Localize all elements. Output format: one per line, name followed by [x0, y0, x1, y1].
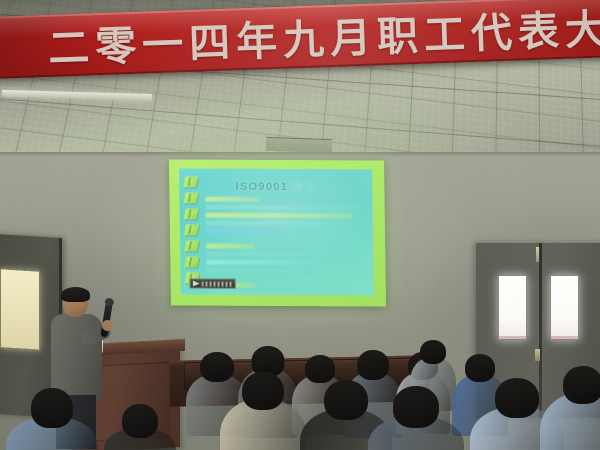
- presenter-hand: [102, 320, 113, 331]
- audience-member-head: [563, 366, 600, 404]
- slide-logo-badge: [190, 279, 236, 289]
- slide-bullet-icon: [184, 225, 199, 236]
- slide-text-line: [207, 291, 351, 296]
- slide-text-line: [206, 221, 347, 227]
- presenter-hair: [61, 287, 90, 302]
- slide-text-line: [205, 197, 259, 202]
- slide-text-line: [206, 260, 331, 266]
- left-door-glass-panel: [0, 268, 40, 350]
- audience-member-head: [357, 350, 389, 380]
- audience-member: [104, 404, 176, 450]
- audience-member-head: [420, 340, 446, 364]
- door-glass-panel-right: [550, 275, 579, 340]
- logo-wordmark: [202, 281, 233, 286]
- play-triangle-icon: [193, 281, 200, 287]
- slide-text-line: [206, 213, 353, 219]
- slide-title-suffix: 简 介: [292, 182, 316, 192]
- audience-member-head: [242, 372, 284, 410]
- conference-room-photo: 二零一四年九月职工代表大 ISO9001 简 介: [0, 0, 600, 450]
- audience-member: [368, 386, 464, 450]
- audience-member-head: [393, 386, 439, 428]
- slide-title: ISO9001 简 介: [179, 179, 372, 193]
- slide-bullet-icon: [184, 241, 199, 252]
- slide-text-line: [206, 229, 283, 234]
- projection-screen: ISO9001 简 介: [169, 159, 386, 306]
- audience-member-head: [324, 380, 368, 420]
- slide-bullet-icon: [183, 177, 198, 188]
- door-glass-panel-left: [498, 275, 527, 340]
- slide-bullet-column: [182, 177, 204, 289]
- slide-text-line: [206, 252, 356, 258]
- audience-member-head: [465, 354, 495, 382]
- slide-text-line: [206, 244, 254, 249]
- audience-member-head: [200, 352, 234, 382]
- presentation-slide: ISO9001 简 介: [179, 168, 374, 295]
- slide-bullet-icon: [183, 193, 198, 204]
- microphone-head: [104, 298, 114, 307]
- audience-member-head: [122, 404, 158, 438]
- audience-member-head: [305, 355, 335, 383]
- audience-member: [6, 388, 98, 450]
- audience-member: [220, 372, 306, 450]
- slide-bullet-icon: [184, 257, 199, 268]
- slide-title-text: ISO9001: [236, 181, 289, 193]
- audience-member-head: [31, 388, 73, 428]
- audience-member-head: [495, 378, 539, 418]
- slide-bullet-icon: [184, 209, 199, 220]
- slide-text-line: [206, 205, 360, 211]
- door-handle-icon[interactable]: [535, 349, 540, 361]
- slide-text-line: [206, 268, 312, 274]
